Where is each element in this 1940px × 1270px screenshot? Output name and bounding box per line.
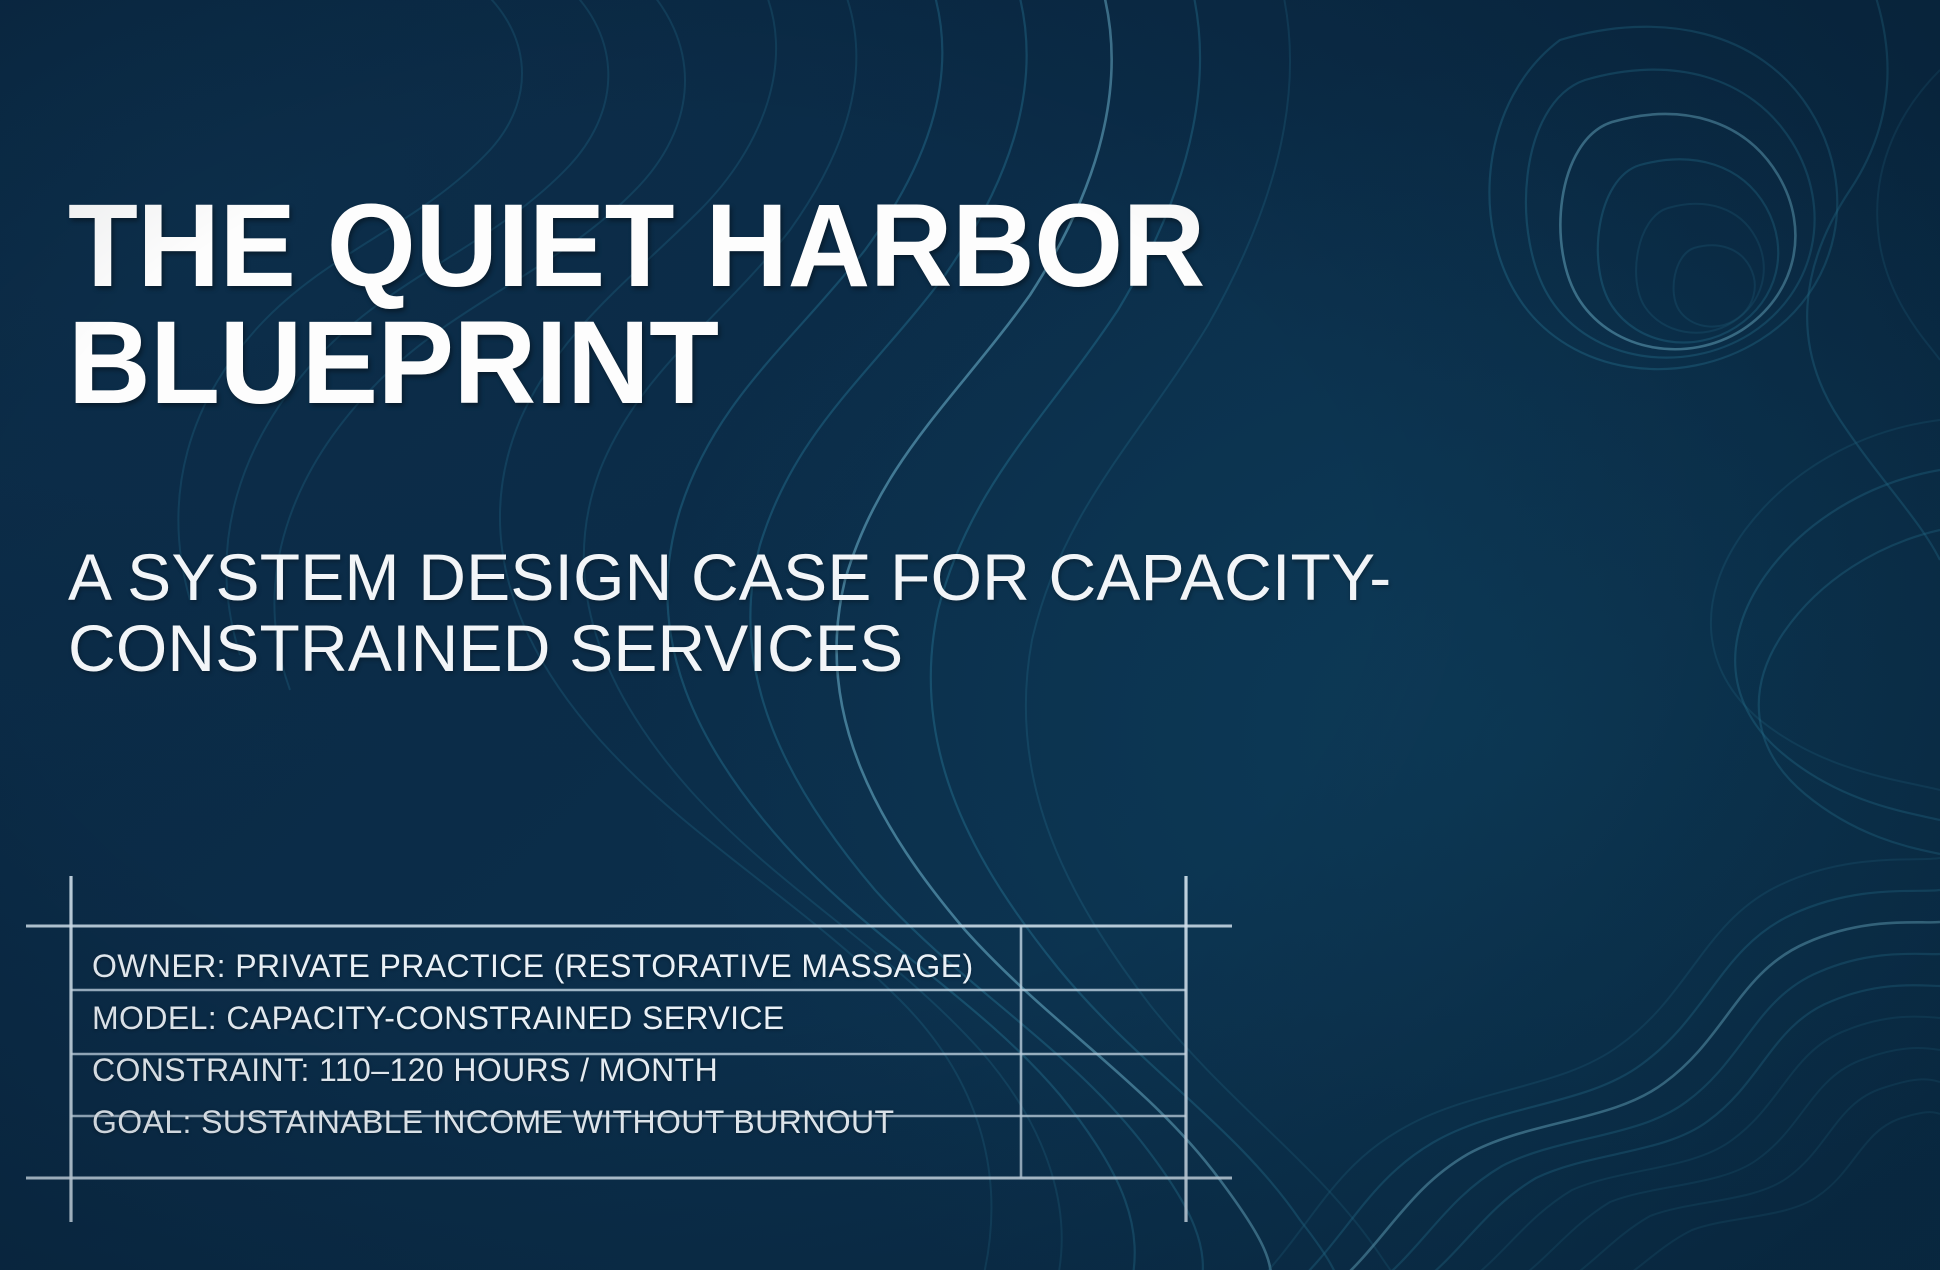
spec-row-goal: GOAL: SUSTAINABLE INCOME WITHOUT BURNOUT bbox=[92, 1106, 894, 1138]
page-subtitle: A SYSTEM DESIGN CASE FOR CAPACITY-CONSTR… bbox=[68, 542, 1458, 685]
slide-canvas: THE QUIET HARBOR BLUEPRINT A SYSTEM DESI… bbox=[0, 0, 1940, 1270]
page-title: THE QUIET HARBOR BLUEPRINT bbox=[68, 188, 1523, 422]
spec-row-constraint: CONSTRAINT: 110–120 HOURS / MONTH bbox=[92, 1054, 718, 1086]
spec-row-owner: OWNER: PRIVATE PRACTICE (RESTORATIVE MAS… bbox=[92, 950, 974, 982]
spec-row-model: MODEL: CAPACITY-CONSTRAINED SERVICE bbox=[92, 1002, 785, 1034]
